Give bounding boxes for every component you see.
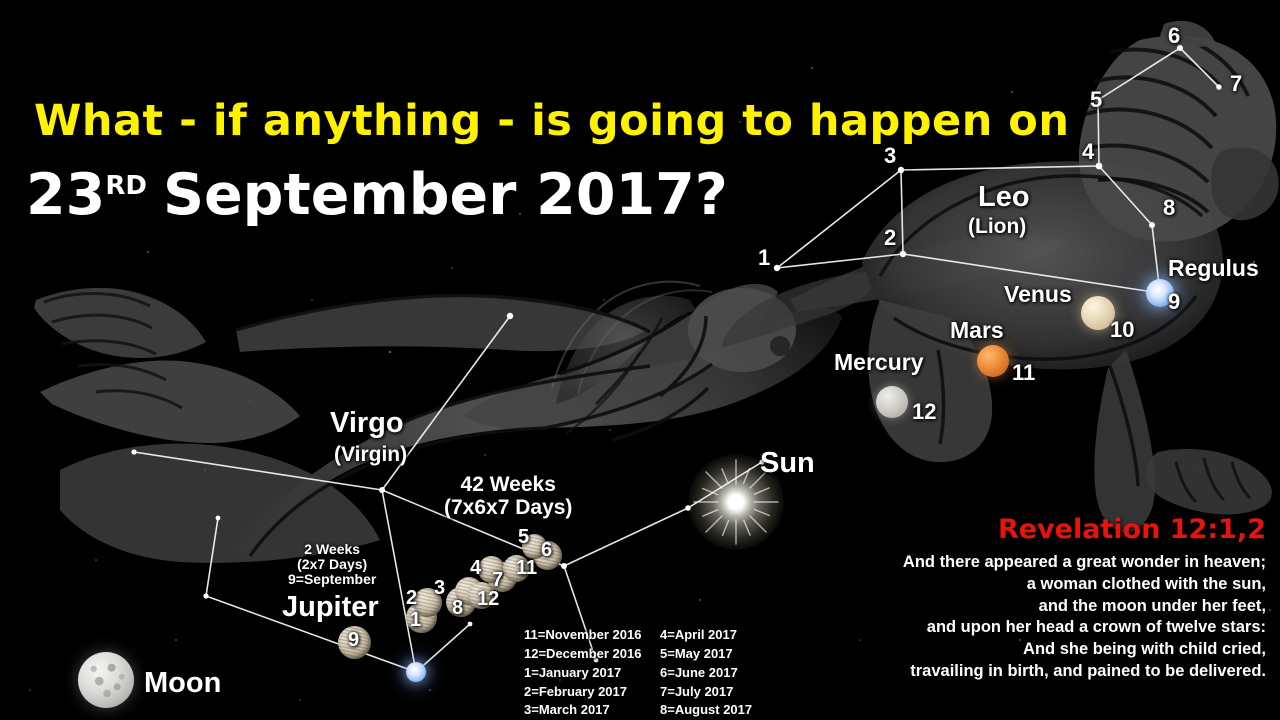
leo-star-number-7: 7 xyxy=(1230,72,1242,96)
mercury-label: Mercury xyxy=(834,350,923,375)
leo-star-number-3: 3 xyxy=(884,144,896,168)
two-weeks-note: 2 Weeks (2x7 Days) 9=September xyxy=(288,542,376,587)
leo-star-number-8: 8 xyxy=(1163,196,1175,220)
scripture-line: and the moon under her feet, xyxy=(796,596,1266,618)
jupiter-label: Jupiter xyxy=(282,592,379,623)
legend-item: 11=November 2016 xyxy=(524,626,641,645)
two-weeks-line1: 2 Weeks xyxy=(288,542,376,557)
scripture-reference: Revelation 12:1,2 xyxy=(998,514,1266,545)
legend-item: 2=February 2017 xyxy=(524,683,641,702)
sky-chart-image: What - if anything - is going to happen … xyxy=(0,0,1280,720)
month-legend-column-right: 4=April 2017 5=May 2017 6=June 2017 7=Ju… xyxy=(660,626,752,720)
scripture-line: and upon her head a crown of twelve star… xyxy=(796,617,1266,639)
legend-item: 4=April 2017 xyxy=(660,626,752,645)
scripture-line: And there appeared a great wonder in hea… xyxy=(796,552,1266,574)
jupiter-number-9: 9 xyxy=(348,630,359,652)
legend-item: 7=July 2017 xyxy=(660,683,752,702)
legend-item: 1=January 2017 xyxy=(524,664,641,683)
mars-number: 11 xyxy=(1012,361,1035,385)
legend-item: 8=August 2017 xyxy=(660,701,752,720)
leo-star-number-4: 4 xyxy=(1082,140,1094,164)
headline-month-year: September 2017? xyxy=(163,162,728,228)
scripture-line: a woman clothed with the sun, xyxy=(796,574,1266,596)
venus-number: 10 xyxy=(1110,318,1134,342)
moon-disc xyxy=(78,652,134,708)
two-weeks-line2: (2x7 Days) xyxy=(288,557,376,572)
moon-label: Moon xyxy=(144,668,221,699)
leo-star-number-2: 2 xyxy=(884,226,896,250)
mars-disc xyxy=(977,345,1009,377)
jupiter-number-2: 2 xyxy=(406,588,417,610)
jupiter-number-4: 4 xyxy=(470,558,481,580)
mercury-number: 12 xyxy=(912,400,936,424)
regulus-number: 9 xyxy=(1168,290,1180,314)
sun-label: Sun xyxy=(760,448,815,479)
scripture-line: travailing in birth, and pained to be de… xyxy=(796,661,1266,683)
regulus-label: Regulus xyxy=(1168,256,1259,281)
headline-day: 23 xyxy=(26,162,105,228)
jupiter-number-7: 7 xyxy=(492,570,503,592)
forty-two-weeks-note: 42 Weeks (7x6x7 Days) xyxy=(444,474,572,519)
mars-label: Mars xyxy=(950,318,1004,343)
legend-item: 3=March 2017 xyxy=(524,701,641,720)
scripture-text: And there appeared a great wonder in hea… xyxy=(796,552,1266,683)
leo-star-number-5: 5 xyxy=(1090,88,1102,112)
jupiter-number-3: 3 xyxy=(434,578,445,600)
headline-date: 23RDSeptember 2017? xyxy=(26,162,728,228)
forty-two-weeks-line2: (7x6x7 Days) xyxy=(444,497,572,520)
virgo-label: Virgo xyxy=(330,408,404,439)
headline-question: What - if anything - is going to happen … xyxy=(34,96,1069,146)
jupiter-number-11: 11 xyxy=(516,558,537,580)
month-legend-column-left: 11=November 2016 12=December 2016 1=Janu… xyxy=(524,626,641,720)
legend-item: 6=June 2017 xyxy=(660,664,752,683)
jupiter-number-12: 12 xyxy=(477,589,499,611)
leo-label: Leo xyxy=(978,182,1030,213)
venus-label: Venus xyxy=(1004,282,1072,307)
jupiter-number-1: 1 xyxy=(410,610,421,632)
leo-sublabel: (Lion) xyxy=(968,216,1026,239)
forty-two-weeks-line1: 42 Weeks xyxy=(444,474,572,497)
jupiter-number-8: 8 xyxy=(452,598,463,620)
two-weeks-line3: 9=September xyxy=(288,572,376,587)
jupiter-number-5: 5 xyxy=(518,527,529,549)
leo-star-number-6: 6 xyxy=(1168,24,1180,48)
legend-item: 12=December 2016 xyxy=(524,645,641,664)
virgo-sublabel: (Virgin) xyxy=(334,444,407,467)
leo-star-number-1: 1 xyxy=(758,246,770,270)
scripture-line: And she being with child cried, xyxy=(796,639,1266,661)
jupiter-number-6: 6 xyxy=(541,540,552,562)
legend-item: 5=May 2017 xyxy=(660,645,752,664)
spica-star xyxy=(406,662,426,682)
headline-ordinal: RD xyxy=(105,171,147,201)
mercury-disc xyxy=(876,386,908,418)
